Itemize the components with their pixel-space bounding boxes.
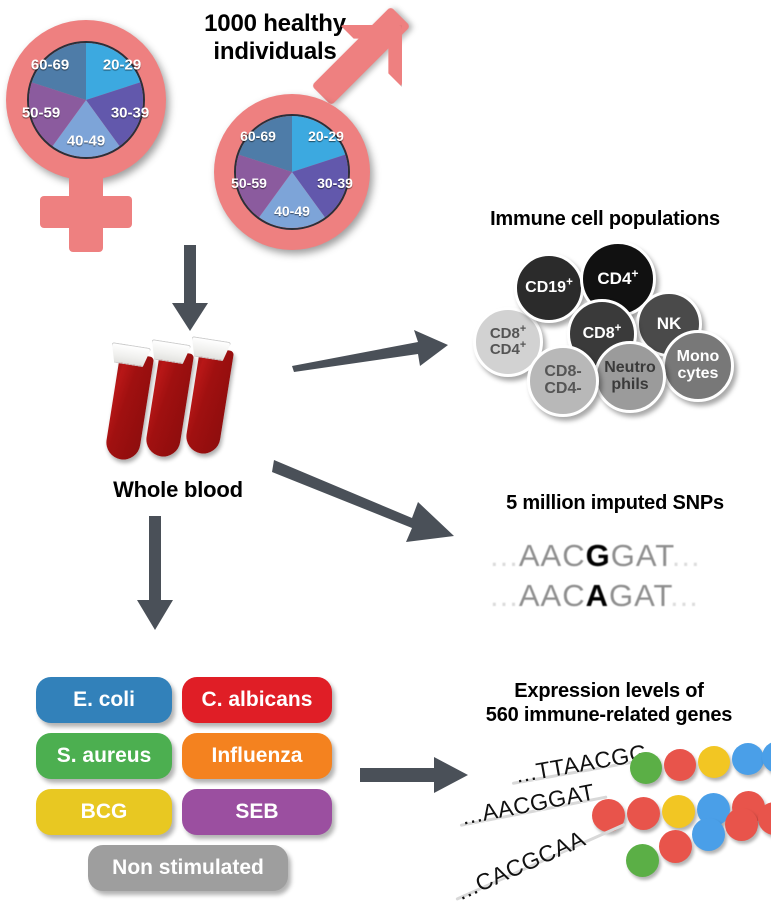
snp-left-1: AAC [519, 538, 586, 573]
pie-label-male-30-39: 30-39 [317, 175, 353, 191]
cell-label-neutro-line2: phils [604, 377, 656, 394]
snp-right-1: GAT [611, 538, 672, 573]
immune-cell-neutrophils: Neutro phils [594, 341, 666, 413]
cell-sup-plus-1: + [520, 323, 526, 335]
snp-prefix-1: ... [490, 538, 519, 573]
snp-variant-1: G [586, 538, 611, 573]
pie-label-male-20-29: 20-29 [308, 128, 344, 144]
cell-sup-plus-2: + [520, 339, 526, 351]
cell-label-cd4: CD4 [597, 269, 631, 288]
arrow-blood-to-stimuli [133, 516, 177, 634]
gene-bead-3-2 [692, 818, 725, 851]
snp-suffix-1: ... [672, 538, 701, 573]
pie-label-female-20-29: 20-29 [103, 57, 141, 74]
whole-blood-label: Whole blood [68, 477, 288, 503]
cell-label-cd8: CD8 [583, 325, 615, 342]
cell-label-mono-line2: cytes [677, 366, 720, 383]
gene-bead-1-4 [762, 741, 771, 773]
cell-label-dn-line1: CD8- [544, 364, 581, 381]
immune-cells-heading: Immune cell populations [450, 208, 760, 232]
arrow-blood-to-immune [290, 328, 452, 372]
pie-label-male-50-59: 50-59 [231, 175, 267, 191]
cell-sup-plus-4: + [631, 267, 638, 281]
snp-suffix-2: ... [670, 578, 699, 613]
pie-label-male-60-69: 60-69 [240, 128, 276, 144]
male-symbol: 20-29 30-39 40-49 50-59 60-69 [200, 30, 430, 260]
cell-label-neutro-line1: Neutro [604, 360, 656, 377]
cell-sup-plus-5: + [615, 322, 622, 334]
gene-bead-1-3 [732, 743, 764, 775]
gene-strand-3: ...CACGCAA [440, 824, 771, 904]
immune-cell-cluster: CD8+ CD4+ CD19+ CD4+ NK CD8+ Mono cytes [440, 235, 771, 420]
pie-label-female-30-39: 30-39 [111, 105, 149, 122]
cell-label-nk: NK [657, 315, 682, 333]
snp-prefix-2: ... [490, 578, 519, 613]
cell-label-cd8p-line1: CD8 [490, 325, 520, 342]
gene-bead-1-0 [630, 752, 662, 784]
pie-label-female-50-59: 50-59 [22, 105, 60, 122]
arrow-blood-to-snps [272, 448, 458, 548]
cell-label-mono-line1: Mono [677, 349, 720, 366]
gene-bead-3-0 [626, 844, 659, 877]
expression-heading-line1: Expression levels of [450, 680, 768, 704]
pie-label-male-40-49: 40-49 [274, 203, 310, 219]
stimulus-e-coli[interactable]: E. coli [36, 677, 172, 723]
gene-strands: ...TTAACGG ...AACGGAT ...CACGCAA [440, 740, 771, 920]
stimulus-influenza[interactable]: Influenza [182, 733, 332, 779]
female-symbol: 20-29 30-39 40-49 50-59 60-69 [0, 10, 200, 250]
immune-cell-cd8n-cd4n: CD8- CD4- [527, 345, 599, 417]
snp-sequence-row-2: ...AACAGAT... [490, 578, 699, 614]
snp-right-2: GAT [609, 578, 670, 613]
immune-cell-monocytes: Mono cytes [662, 330, 734, 402]
arrow-cohort-to-blood [168, 245, 212, 335]
pie-label-female-40-49: 40-49 [67, 133, 105, 150]
snp-left-2: AAC [519, 578, 586, 613]
stimulus-s-aureus[interactable]: S. aureus [36, 733, 172, 779]
stimulus-non-stimulated[interactable]: Non stimulated [88, 845, 288, 891]
snps-heading: 5 million imputed SNPs [470, 492, 760, 516]
stimulus-seb[interactable]: SEB [182, 789, 332, 835]
gene-bead-3-3 [725, 808, 758, 841]
gene-strand-text-3: ...CACGCAA [453, 825, 590, 906]
snp-sequence-row-1: ...AACGGAT... [490, 538, 701, 574]
pie-label-female-60-69: 60-69 [31, 57, 69, 74]
expression-heading: Expression levels of 560 immune-related … [450, 680, 768, 727]
gene-bead-1-2 [698, 746, 730, 778]
cell-label-dn-line2: CD4- [544, 381, 581, 398]
stimulus-bcg[interactable]: BCG [36, 789, 172, 835]
expression-heading-line2: 560 immune-related genes [450, 704, 768, 728]
cell-label-cd4p-line2: CD4 [490, 341, 520, 358]
gene-bead-3-1 [659, 830, 692, 863]
female-symbol-crossbar [40, 196, 132, 228]
cell-sup-plus-3: + [566, 276, 573, 288]
snp-variant-2: A [586, 578, 609, 613]
gene-bead-1-1 [664, 749, 696, 781]
figure-canvas: 1000 healthy individuals 20-29 30-39 40-… [0, 0, 771, 922]
gene-strand-text-2: ...AACGGAT [459, 779, 597, 831]
stimulus-c-albicans[interactable]: C. albicans [182, 677, 332, 723]
cell-label-cd19: CD19 [525, 279, 566, 296]
blood-tubes [108, 338, 248, 468]
